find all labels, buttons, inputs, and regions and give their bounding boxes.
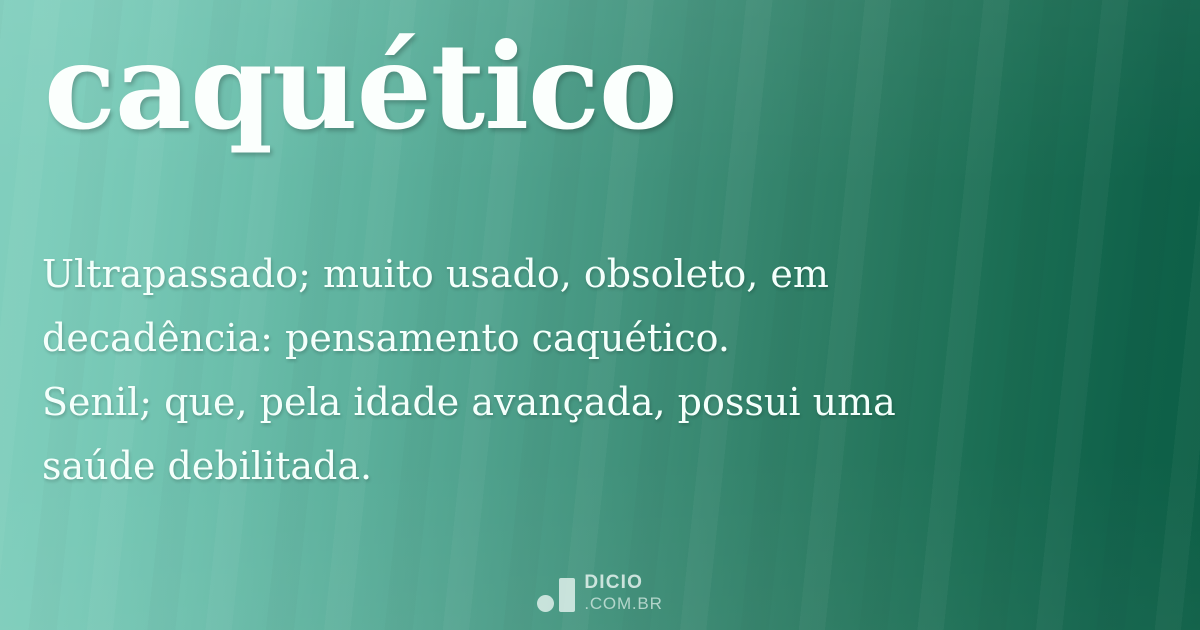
logo-name: DICIO	[584, 573, 662, 592]
definition-line: saúde debilitada.	[42, 434, 1102, 498]
logo-tld: .COM.BR	[584, 595, 662, 612]
definition-card: caquético Ultrapassado; muito usado, obs…	[0, 0, 1200, 630]
definition-line: Senil; que, pela idade avançada, possui …	[42, 370, 1102, 434]
dicio-logo[interactable]: DICIO .COM.BR	[0, 573, 1200, 612]
logo-mark-icon	[537, 578, 575, 612]
logo-bar-icon	[559, 578, 575, 612]
definition-line: decadência: pensamento caquético.	[42, 306, 1102, 370]
logo-wordmark: DICIO .COM.BR	[584, 573, 662, 612]
logo-circle-icon	[537, 595, 554, 612]
headword: caquético	[44, 28, 677, 146]
definition-line: Ultrapassado; muito usado, obsoleto, em	[42, 242, 1102, 306]
definition-block: Ultrapassado; muito usado, obsoleto, em …	[42, 242, 1102, 498]
card-content: caquético Ultrapassado; muito usado, obs…	[0, 0, 1200, 630]
